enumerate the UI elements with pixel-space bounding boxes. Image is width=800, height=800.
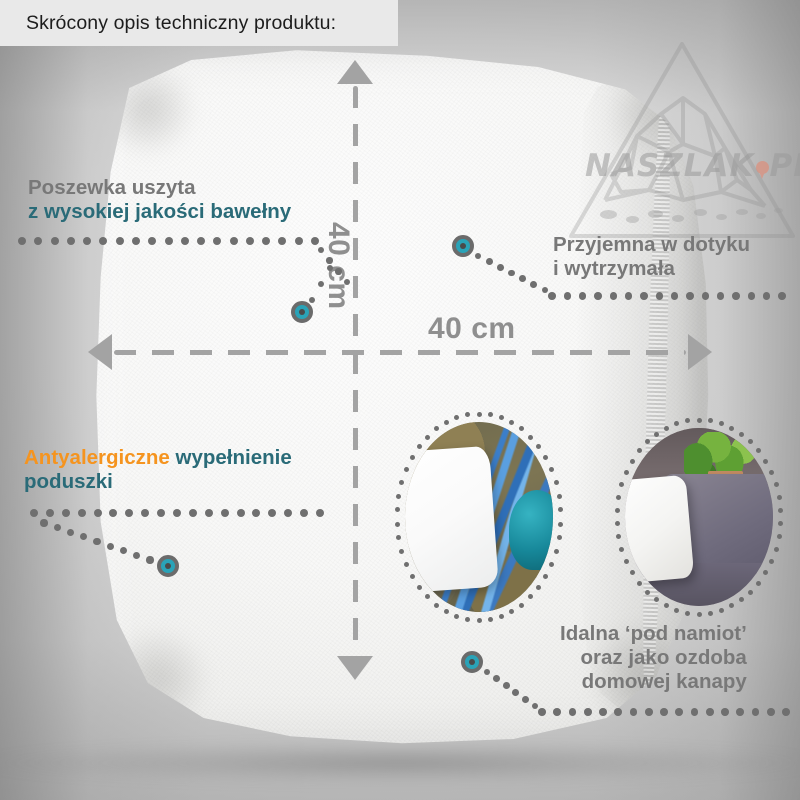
leader-dot: [46, 509, 54, 517]
annotation-tent: Idalna ‘pod namiot’ oraz jako ozdoba dom…: [560, 622, 747, 695]
leader-dot: [660, 708, 668, 716]
leader-dot: [94, 509, 102, 517]
leader-dot: [327, 265, 333, 271]
photo-inset-sofa: [625, 428, 773, 606]
annotation-tent-line2: oraz jako ozdoba: [560, 646, 747, 670]
leader-dot: [181, 237, 189, 245]
leader-dot: [146, 556, 153, 563]
leader-dot: [67, 529, 74, 536]
leader-dot: [752, 708, 760, 716]
annotation-cotton: Poszewka uszyta z wysokiej jakości baweł…: [28, 176, 291, 224]
photo-pillow-sofa: [625, 428, 773, 606]
annotation-antiallergic-accent: Antyalergiczne: [24, 446, 170, 469]
pillow-corner-shade-top-left: [98, 60, 197, 158]
watermark-dot: [672, 215, 684, 222]
watermark-dot: [648, 210, 663, 218]
leader-dot: [538, 708, 546, 716]
horizontal-dimension-label: 40 cm: [428, 312, 516, 346]
annotation-cotton-line2: z wysokiej jakości bawełny: [28, 200, 291, 224]
leader-dot: [721, 708, 729, 716]
leader-dot: [309, 297, 315, 303]
leader-dot: [197, 237, 205, 245]
marker-cotton[interactable]: [291, 301, 313, 323]
leader-dot: [767, 708, 775, 716]
leader-dot: [116, 237, 124, 245]
leader-dot: [246, 237, 254, 245]
leader-dot: [30, 509, 38, 517]
leader-dot: [51, 237, 59, 245]
leader-dot: [706, 708, 714, 716]
leader-dot: [702, 292, 710, 300]
leader-dot: [62, 509, 70, 517]
leader-dot: [748, 292, 756, 300]
photo-pillow-climbing-rope: [405, 422, 553, 612]
annotation-tent-line1: Idalna ‘pod namiot’: [560, 622, 747, 646]
leader-dot: [486, 258, 493, 265]
leader-dot: [295, 237, 303, 245]
map-pin-icon: [756, 161, 769, 179]
leader-dot: [630, 708, 638, 716]
leader-dot: [54, 524, 61, 531]
watermark-dot: [716, 214, 727, 220]
leader-dot: [512, 689, 519, 696]
watermark-dot: [626, 216, 639, 223]
watermark-dot-trail: [596, 196, 786, 226]
leader-dot: [530, 281, 537, 288]
leader-dot: [165, 237, 173, 245]
leader-dot: [691, 708, 699, 716]
leader-dot: [67, 237, 75, 245]
leader-dot: [497, 264, 504, 271]
leader-dot: [132, 237, 140, 245]
leader-dot: [553, 708, 561, 716]
leader-dot: [78, 509, 86, 517]
leader-dot: [594, 292, 602, 300]
leader-dot: [610, 292, 618, 300]
photo-inset-rope: [405, 422, 553, 612]
leader-dot: [599, 708, 607, 716]
leader-dot: [732, 292, 740, 300]
leader-dot: [237, 509, 245, 517]
leader-dot: [107, 543, 114, 550]
leader-dot: [522, 696, 529, 703]
watermark-tld: PL: [770, 148, 800, 184]
watermark-dot: [736, 209, 748, 215]
leader-dot: [503, 682, 510, 689]
leader-dot: [335, 268, 341, 274]
annotation-touch: Przyjemna w dotyku i wytrzymała: [553, 233, 750, 281]
leader-dot: [564, 292, 572, 300]
watermark-brand-text: NASZLAKPL: [585, 148, 800, 184]
leader-dot: [173, 509, 181, 517]
leader-dot: [318, 281, 324, 287]
annotation-touch-line2: i wytrzymała: [553, 257, 750, 281]
leader-dot: [736, 708, 744, 716]
marker-antiallergic[interactable]: [157, 555, 179, 577]
leader-dot: [686, 292, 694, 300]
watermark-dot: [774, 208, 783, 213]
annotation-antiallergic-line2: poduszki: [24, 470, 292, 494]
leader-dot: [640, 292, 648, 300]
annotation-antiallergic-line1: Antyalergiczne wypełnienie: [24, 446, 292, 470]
product-infographic: NASZLAKPL 40 cm 40 cm Poszewka uszyta z …: [0, 0, 800, 800]
leader-dot: [230, 237, 238, 245]
leader-dot: [316, 509, 324, 517]
leader-dot: [205, 509, 213, 517]
vertical-dimension-label: 40 cm: [321, 222, 355, 310]
leader-dot: [614, 708, 622, 716]
marker-touch[interactable]: [452, 235, 474, 257]
leader-dot: [584, 708, 592, 716]
leader-dot: [311, 237, 319, 245]
annotation-antiallergic: Antyalergiczne wypełnienie poduszki: [24, 446, 292, 494]
leader-dot: [548, 292, 556, 300]
annotation-cotton-line1: Poszewka uszyta: [28, 176, 291, 200]
floor-shadow: [0, 742, 800, 784]
watermark-dot: [600, 210, 617, 219]
watermark-dot: [694, 209, 707, 216]
leader-dot: [645, 708, 653, 716]
leader-dot: [778, 292, 786, 300]
leader-dot: [189, 509, 197, 517]
photo-pillow-shape: [405, 445, 499, 592]
leader-dot: [93, 538, 100, 545]
leader-dot: [221, 509, 229, 517]
leader-dot: [675, 708, 683, 716]
watermark-brand-name: NASZLAK: [585, 148, 755, 184]
leader-dot: [326, 257, 332, 263]
photo-helmet-shape: [509, 490, 553, 570]
annotation-touch-line1: Przyjemna w dotyku: [553, 233, 750, 257]
photo-pillow-shape: [625, 475, 694, 585]
leader-dot: [782, 708, 790, 716]
marker-tent[interactable]: [461, 651, 483, 673]
watermark-dot: [756, 213, 766, 219]
leader-dot: [18, 237, 26, 245]
annotation-tent-line3: domowej kanapy: [560, 670, 747, 694]
leader-dot: [569, 708, 577, 716]
leader-dot: [656, 292, 664, 300]
header-band: Skrócony opis techniczny produktu:: [0, 0, 398, 46]
page-title: Skrócony opis techniczny produktu:: [0, 12, 336, 35]
annotation-antiallergic-rest: wypełnienie: [170, 446, 292, 469]
pillow-corner-shade-bottom-left: [104, 627, 209, 732]
leader-dot: [40, 519, 47, 526]
